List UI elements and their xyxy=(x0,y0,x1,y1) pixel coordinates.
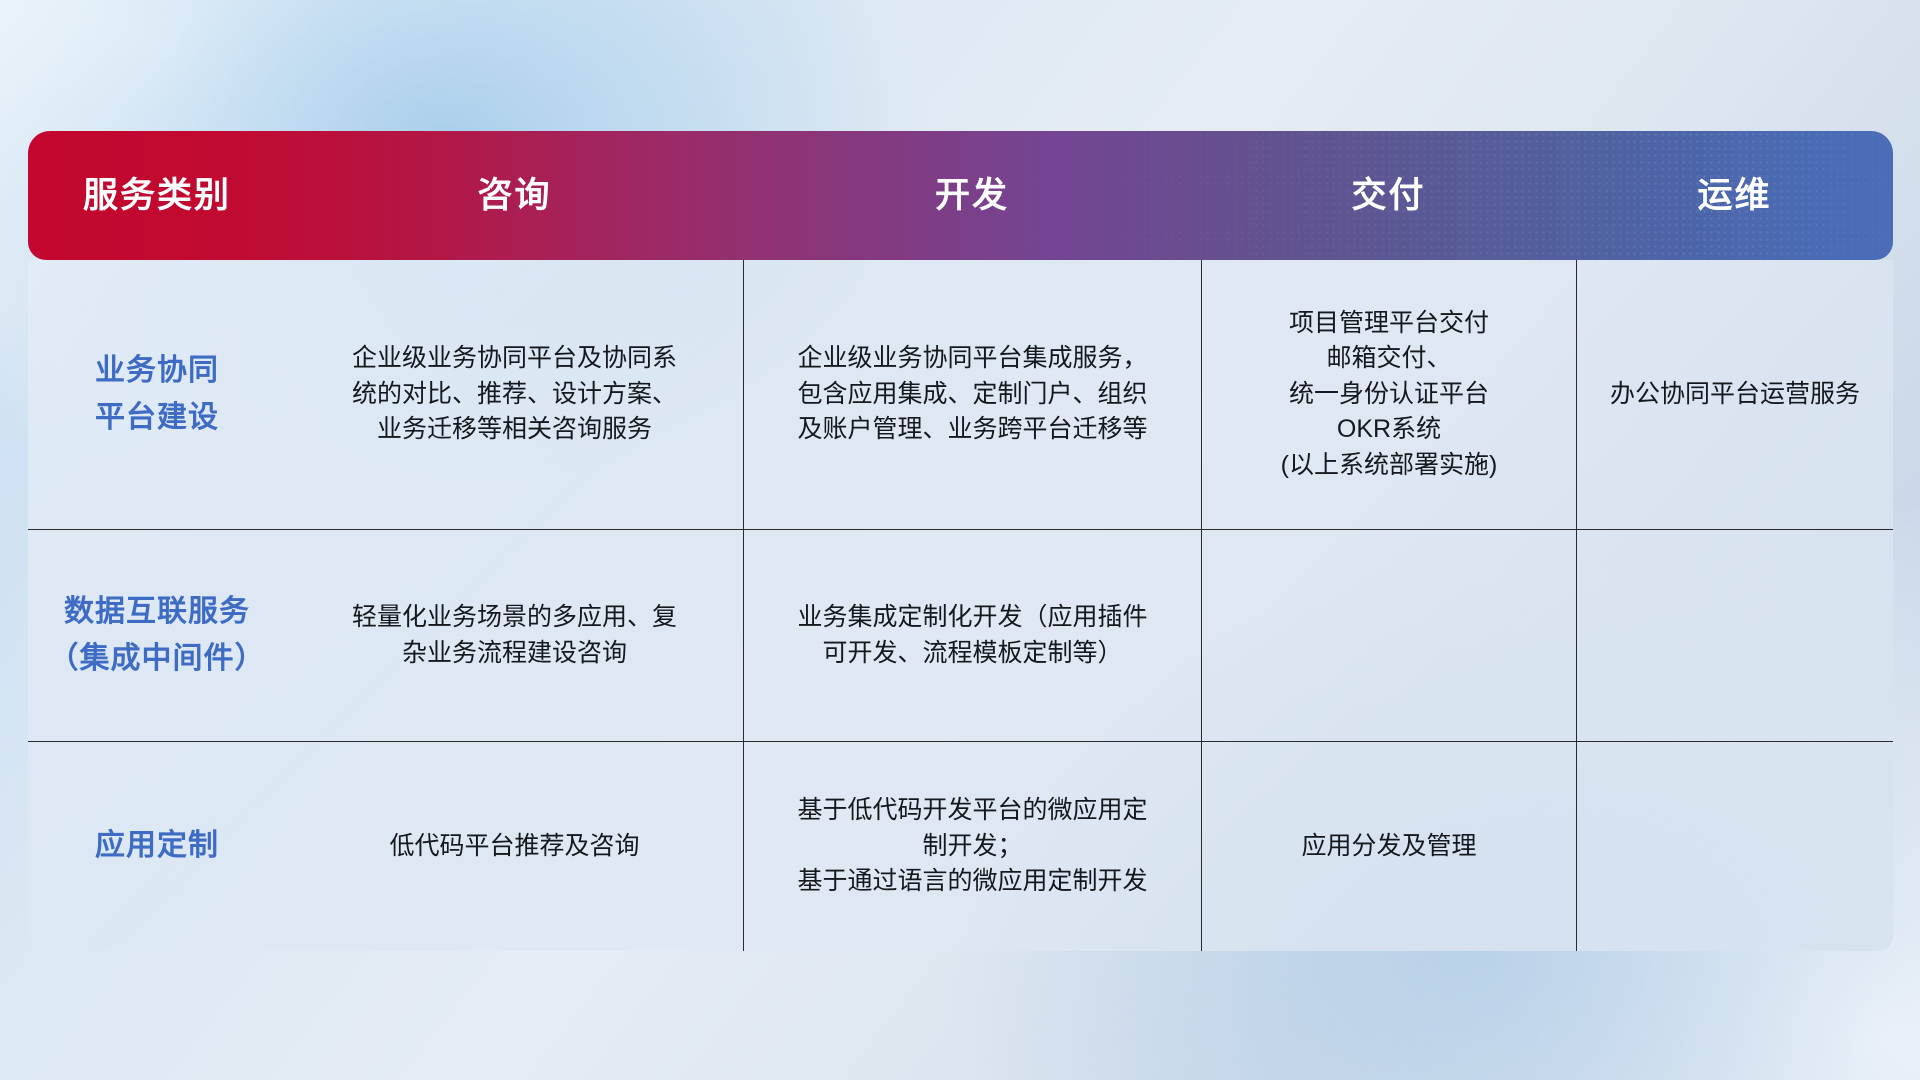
cell-development: 基于低代码开发平台的微应用定 制开发； 基于通过语言的微应用定制开发 xyxy=(743,742,1201,951)
table-row: 应用定制 低代码平台推荐及咨询 基于低代码开发平台的微应用定 制开发； 基于通过… xyxy=(28,741,1893,951)
column-header-consulting: 咨询 xyxy=(286,178,743,213)
cell-operations xyxy=(1576,742,1893,951)
table-body: 业务协同 平台建设 企业级业务协同平台及协同系 统的对比、推荐、设计方案、 业务… xyxy=(28,260,1893,951)
cell-consulting: 低代码平台推荐及咨询 xyxy=(286,742,743,951)
slide-canvas: 服务类别 咨询 开发 交付 运维 业务协同 平台建设 企业级业务协同平台及协同系… xyxy=(0,0,1920,1080)
services-matrix-table: 服务类别 咨询 开发 交付 运维 业务协同 平台建设 企业级业务协同平台及协同系… xyxy=(28,131,1893,951)
row-label-text: 业务协同 平台建设 xyxy=(95,348,219,441)
table-row: 数据互联服务 （集成中间件） 轻量化业务场景的多应用、复 杂业务流程建设咨询 业… xyxy=(28,529,1893,741)
cell-development: 业务集成定制化开发（应用插件 可开发、流程模板定制等） xyxy=(743,530,1201,741)
table-row: 业务协同 平台建设 企业级业务协同平台及协同系 统的对比、推荐、设计方案、 业务… xyxy=(28,260,1893,529)
cell-consulting: 企业级业务协同平台及协同系 统的对比、推荐、设计方案、 业务迁移等相关咨询服务 xyxy=(286,260,743,529)
column-header-development: 开发 xyxy=(743,178,1201,213)
column-header-operations: 运维 xyxy=(1576,178,1893,213)
cell-delivery: 应用分发及管理 xyxy=(1201,742,1576,951)
cell-development: 企业级业务协同平台集成服务， 包含应用集成、定制门户、组织 及账户管理、业务跨平… xyxy=(743,260,1201,529)
cell-consulting: 轻量化业务场景的多应用、复 杂业务流程建设咨询 xyxy=(286,530,743,741)
row-label-cell: 数据互联服务 （集成中间件） xyxy=(28,530,286,741)
row-label-cell: 应用定制 xyxy=(28,742,286,951)
row-label-cell: 业务协同 平台建设 xyxy=(28,260,286,529)
table-header-row: 服务类别 咨询 开发 交付 运维 xyxy=(28,131,1893,260)
cell-operations: 办公协同平台运营服务 xyxy=(1576,260,1893,529)
row-label-text: 应用定制 xyxy=(95,823,219,870)
row-label-text: 数据互联服务 （集成中间件） xyxy=(49,589,266,682)
cell-delivery: 项目管理平台交付 邮箱交付、 统一身份认证平台 OKR系统 (以上系统部署实施) xyxy=(1201,260,1576,529)
cell-delivery xyxy=(1201,530,1576,741)
column-header-delivery: 交付 xyxy=(1201,178,1576,213)
column-header-service-category: 服务类别 xyxy=(28,178,286,213)
cell-operations xyxy=(1576,530,1893,741)
